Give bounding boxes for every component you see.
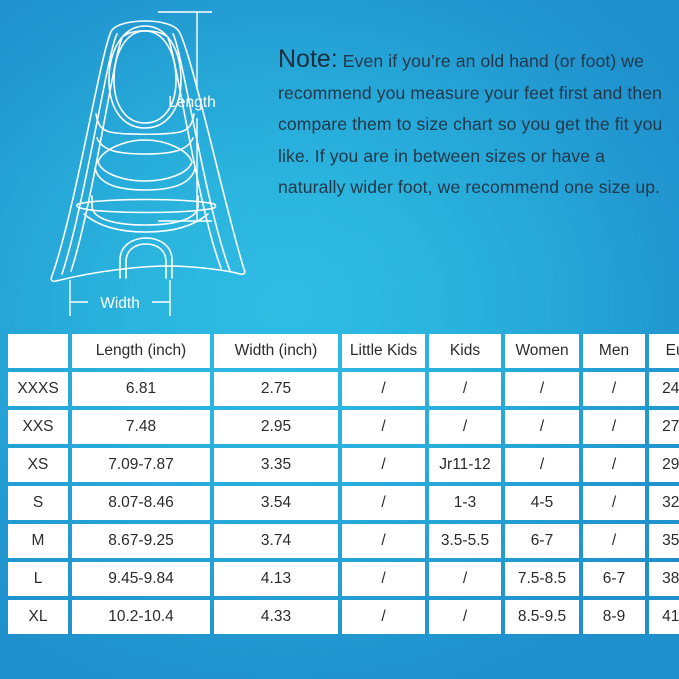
cell-little-kids: /	[342, 600, 425, 634]
header-cell-little-kids: Little Kids	[342, 334, 425, 368]
cell-size: M	[8, 524, 68, 558]
header-cell-kids: Kids	[429, 334, 501, 368]
cell-kids: 1-3	[429, 486, 501, 520]
table-row: XS 7.09-7.87 3.35 / Jr11-12 / / 29-31	[8, 448, 679, 482]
length-label: Length	[168, 94, 215, 111]
fin-instep-top	[96, 114, 194, 134]
table-row: L 9.45-9.84 4.13 / / 7.5-8.5 6-7 38-40	[8, 562, 679, 596]
cell-euro: 38-40	[649, 562, 679, 596]
cell-length: 8.07-8.46	[72, 486, 210, 520]
cell-kids: /	[429, 600, 501, 634]
cell-size: L	[8, 562, 68, 596]
cell-little-kids: /	[342, 448, 425, 482]
cell-women: 4-5	[505, 486, 579, 520]
cell-kids: /	[429, 372, 501, 406]
cell-men: /	[583, 524, 645, 558]
size-chart-page: Length Width Note: Even if you’re an old…	[0, 0, 679, 679]
cell-length: 7.48	[72, 410, 210, 444]
header-cell-men: Men	[583, 334, 645, 368]
cell-little-kids: /	[342, 562, 425, 596]
fin-foot-opening-outer	[109, 26, 181, 128]
cell-women: /	[505, 410, 579, 444]
cell-length: 9.45-9.84	[72, 562, 210, 596]
fin-rib-right-1	[173, 34, 230, 271]
header-cell-euro: Euro	[649, 334, 679, 368]
cell-width: 3.35	[214, 448, 338, 482]
header-cell-size	[8, 334, 68, 368]
cell-men: 6-7	[583, 562, 645, 596]
table-row: M 8.67-9.25 3.74 / 3.5-5.5 6-7 / 35-37	[8, 524, 679, 558]
cell-euro: 24-26	[649, 372, 679, 406]
cell-women: 8.5-9.5	[505, 600, 579, 634]
cell-size: XL	[8, 600, 68, 634]
note-paragraph: Note: Even if you’re an old hand (or foo…	[278, 44, 670, 204]
cell-size: XS	[8, 448, 68, 482]
cell-men: 8-9	[583, 600, 645, 634]
cell-little-kids: /	[342, 524, 425, 558]
cell-length: 10.2-10.4	[72, 600, 210, 634]
cell-size: XXXS	[8, 372, 68, 406]
cell-width: 3.74	[214, 524, 338, 558]
table-row: S 8.07-8.46 3.54 / 1-3 4-5 / 32-34	[8, 486, 679, 520]
cell-euro: 35-37	[649, 524, 679, 558]
cell-women: /	[505, 448, 579, 482]
table-header-row: Length (inch) Width (inch) Little Kids K…	[8, 334, 679, 368]
cell-kids: /	[429, 562, 501, 596]
cell-men: /	[583, 486, 645, 520]
table-row: XL 10.2-10.4 4.33 / / 8.5-9.5 8-9 41-43	[8, 600, 679, 634]
fin-bottom-arch-inner	[126, 244, 166, 278]
cell-length: 6.81	[72, 372, 210, 406]
cell-width: 3.54	[214, 486, 338, 520]
cell-kids: Jr11-12	[429, 448, 501, 482]
cell-women: /	[505, 372, 579, 406]
cell-men: /	[583, 372, 645, 406]
cell-little-kids: /	[342, 410, 425, 444]
width-label: Width	[100, 295, 140, 312]
cell-euro: 29-31	[649, 448, 679, 482]
cell-width: 4.33	[214, 600, 338, 634]
header-cell-women: Women	[505, 334, 579, 368]
cell-width: 2.75	[214, 372, 338, 406]
cell-kids: 3.5-5.5	[429, 524, 501, 558]
cell-width: 2.95	[214, 410, 338, 444]
cell-women: 6-7	[505, 524, 579, 558]
cell-little-kids: /	[342, 486, 425, 520]
cell-kids: /	[429, 410, 501, 444]
cell-size: S	[8, 486, 68, 520]
cell-women: 7.5-8.5	[505, 562, 579, 596]
fin-heel-arc-top	[95, 168, 195, 190]
header-cell-width: Width (inch)	[214, 334, 338, 368]
size-table-container: Length (inch) Width (inch) Little Kids K…	[4, 330, 675, 638]
cell-little-kids: /	[342, 372, 425, 406]
cell-euro: 41-43	[649, 600, 679, 634]
cell-size: XXS	[8, 410, 68, 444]
fin-outer-outline	[51, 21, 245, 281]
note-block: Note: Even if you’re an old hand (or foo…	[278, 44, 670, 204]
fin-arch-ellipse	[98, 140, 192, 181]
cell-men: /	[583, 410, 645, 444]
table-row: XXXS 6.81 2.75 / / / / 24-26	[8, 372, 679, 406]
size-table: Length (inch) Width (inch) Little Kids K…	[4, 330, 679, 638]
fin-foot-opening-inner	[114, 31, 176, 123]
fin-heel-plate	[77, 200, 216, 213]
note-label: Note:	[278, 45, 338, 73]
cell-euro: 27-29	[649, 410, 679, 444]
cell-men: /	[583, 448, 645, 482]
cell-length: 7.09-7.87	[72, 448, 210, 482]
fin-diagram: Length Width	[40, 8, 280, 328]
top-illustration-region: Length Width Note: Even if you’re an old…	[0, 0, 679, 330]
header-cell-length: Length (inch)	[72, 334, 210, 368]
cell-width: 4.13	[214, 562, 338, 596]
cell-length: 8.67-9.25	[72, 524, 210, 558]
cell-euro: 32-34	[649, 486, 679, 520]
table-row: XXS 7.48 2.95 / / / / 27-29	[8, 410, 679, 444]
